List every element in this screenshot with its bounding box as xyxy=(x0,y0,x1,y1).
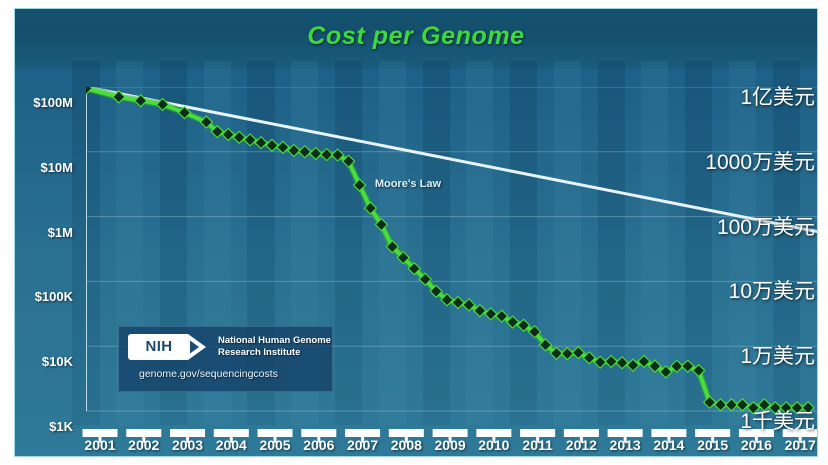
x-axis-label: 2004 xyxy=(207,437,255,453)
chart-card: Cost per Genome $100M$10M$1M$100K$10K$1K… xyxy=(14,8,818,457)
x-axis-label: 2003 xyxy=(164,437,212,453)
cn-annotation-label: 1万美元 xyxy=(740,340,815,370)
x-axis-label: 2007 xyxy=(339,437,387,453)
x-axis-label: 2014 xyxy=(645,437,693,453)
y-axis-label: $10K xyxy=(42,354,73,369)
x-axis-label: 2009 xyxy=(426,437,474,453)
cn-annotation-label: 1000万美元 xyxy=(705,146,815,176)
nih-logo: NIH National Human Genome Research Insti… xyxy=(118,326,333,392)
cn-annotation-label: 1亿美元 xyxy=(740,81,815,111)
x-axis-label: 2013 xyxy=(601,437,649,453)
cn-annotation-label: 1千美元 xyxy=(740,405,815,435)
nih-name-line-2: Research Institute xyxy=(218,347,331,359)
nih-institute-name: National Human Genome Research Institute xyxy=(218,335,331,359)
x-axis-label: 2006 xyxy=(295,437,343,453)
x-axis-label: 2015 xyxy=(689,437,737,453)
y-axis-label: $1K xyxy=(49,419,73,434)
x-axis-label: 2001 xyxy=(76,437,124,453)
cn-annotation-label: 10万美元 xyxy=(729,275,815,305)
x-axis-label: 2010 xyxy=(470,437,518,453)
nih-url: genome.gov/sequencingcosts xyxy=(139,368,278,380)
moores-law-label: Moore's Law xyxy=(375,178,441,190)
y-axis-labels: $100M$10M$1M$100K$10K$1K xyxy=(15,9,83,457)
x-axis-label: 2011 xyxy=(514,437,562,453)
y-axis-label: $10M xyxy=(40,160,73,175)
x-axis-label: 2008 xyxy=(382,437,430,453)
y-axis-label: $100K xyxy=(35,289,73,304)
x-axis-label: 2016 xyxy=(732,437,780,453)
y-axis-label: $1M xyxy=(48,225,73,240)
nih-mark: NIH xyxy=(128,334,210,360)
x-axis-label: 2017 xyxy=(776,437,818,453)
x-axis-label: 2002 xyxy=(120,437,168,453)
x-axis-label: 2012 xyxy=(557,437,605,453)
cn-annotation-label: 100万美元 xyxy=(717,211,815,241)
title-band: Cost per Genome xyxy=(15,9,817,69)
nih-logo-row: NIH National Human Genome Research Insti… xyxy=(128,334,331,360)
data-point-marker xyxy=(726,400,736,410)
x-axis-label: 2005 xyxy=(251,437,299,453)
nih-arrow-icon xyxy=(186,334,210,360)
x-axis-labels: 2001200220032004200520062007200820092010… xyxy=(15,433,818,457)
nih-name-line-1: National Human Genome xyxy=(218,335,331,347)
nih-mark-text: NIH xyxy=(128,334,190,360)
chart-title: Cost per Genome xyxy=(15,22,817,51)
y-axis-label: $100M xyxy=(33,95,73,110)
chart-screenshot: Cost per Genome $100M$10M$1M$100K$10K$1K… xyxy=(0,0,828,465)
